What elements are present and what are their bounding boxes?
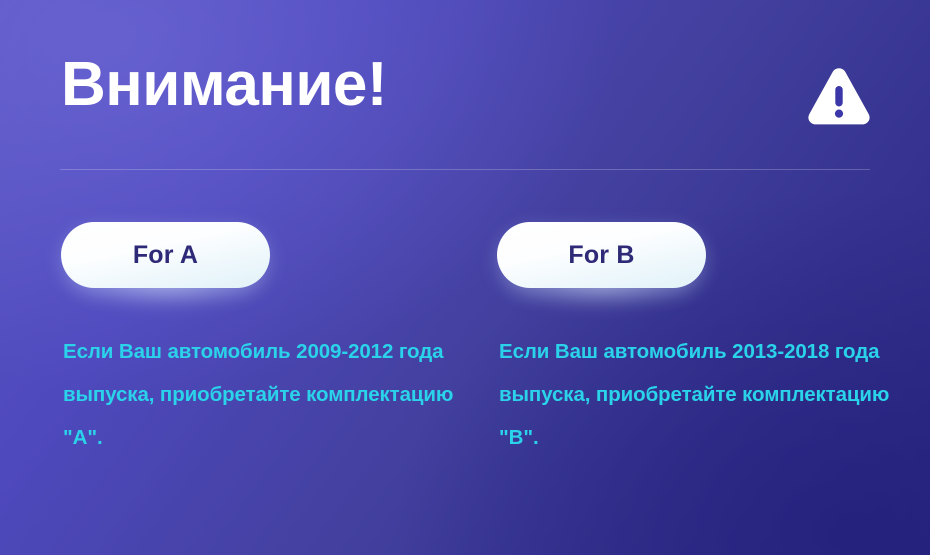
for-b-button[interactable]: For B [497,222,706,288]
option-for-b: For B Если Ваш автомобиль 2013-2018 года… [497,222,897,288]
options-container: For A Если Ваш автомобиль 2009-2012 года… [0,222,930,482]
for-a-button[interactable]: For A [61,222,270,288]
header-divider [60,169,870,170]
warning-triangle-icon [806,65,872,129]
page-title: Внимание! [61,46,387,124]
button-a-wrapper: For A [61,222,270,288]
banner-header: Внимание! [61,46,872,138]
button-b-wrapper: For B [497,222,706,288]
option-b-description: Если Ваш автомобиль 2013-2018 года выпус… [499,330,894,459]
option-for-a: For A Если Ваш автомобиль 2009-2012 года… [61,222,461,288]
attention-banner: Внимание! For A Если Ваш автомобиль 2009… [0,0,930,555]
option-a-description: Если Ваш автомобиль 2009-2012 года выпус… [63,330,458,459]
